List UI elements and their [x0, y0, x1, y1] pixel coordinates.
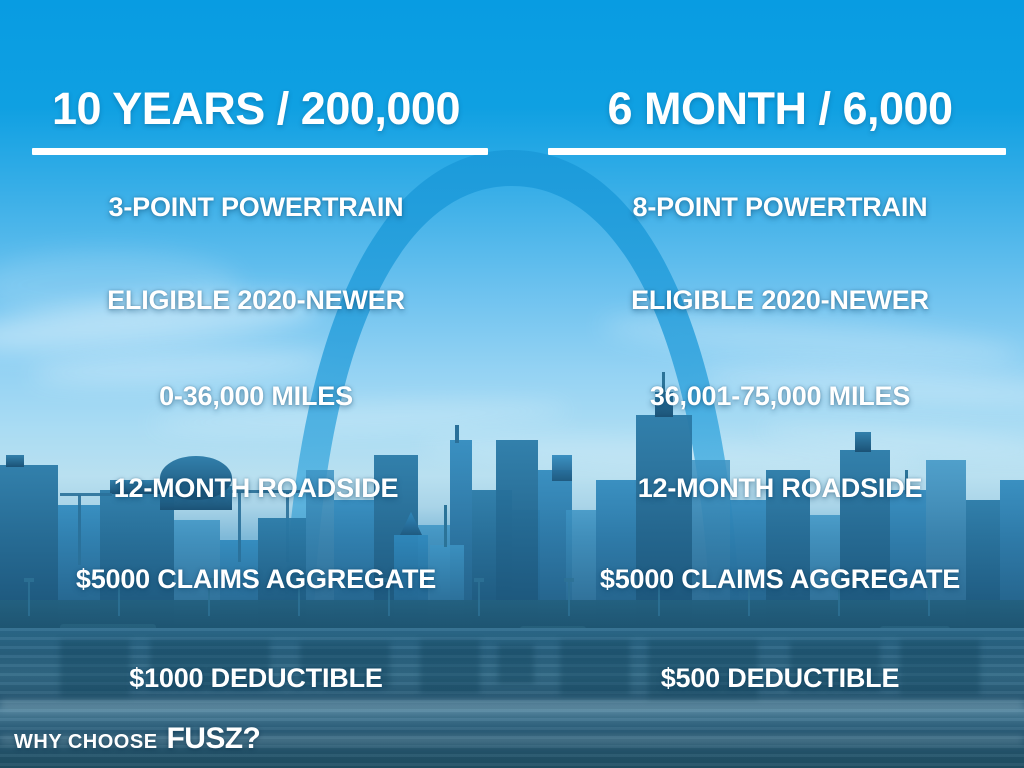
- feature-left-eligibility: ELIGIBLE 2020-NEWER: [0, 287, 524, 314]
- feature-right-eligibility: ELIGIBLE 2020-NEWER: [512, 287, 1024, 314]
- logo-prefix-text: WHY CHOOSE: [14, 731, 158, 754]
- feature-right-mileage: 36,001-75,000 MILES: [512, 383, 1024, 410]
- feature-right-claims-aggregate: $5000 CLAIMS AGGREGATE: [512, 566, 1024, 593]
- brand-logo: WHY CHOOSE FUSZ?: [14, 722, 260, 756]
- plan-header-left: 10 YEARS / 200,000: [0, 86, 524, 131]
- feature-right-powertrain: 8-POINT POWERTRAIN: [512, 194, 1024, 221]
- plan-column-right: 6 MONTH / 6,000 8-POINT POWERTRAIN ELIGI…: [512, 0, 1024, 768]
- feature-left-claims-aggregate: $5000 CLAIMS AGGREGATE: [0, 566, 524, 593]
- logo-brand-text: FUSZ?: [167, 722, 261, 756]
- feature-right-deductible: $500 DEDUCTIBLE: [512, 665, 1024, 692]
- feature-left-mileage: 0-36,000 MILES: [0, 383, 524, 410]
- feature-left-deductible: $1000 DEDUCTIBLE: [0, 665, 524, 692]
- warranty-comparison-slide: 10 YEARS / 200,000 3-POINT POWERTRAIN EL…: [0, 0, 1024, 768]
- feature-left-roadside: 12-MONTH ROADSIDE: [0, 475, 524, 502]
- plan-header-underline-right: [548, 148, 1006, 155]
- plan-header-underline-left: [32, 148, 488, 155]
- feature-left-powertrain: 3-POINT POWERTRAIN: [0, 194, 524, 221]
- plan-column-left: 10 YEARS / 200,000 3-POINT POWERTRAIN EL…: [0, 0, 512, 768]
- feature-right-roadside: 12-MONTH ROADSIDE: [512, 475, 1024, 502]
- plan-header-right: 6 MONTH / 6,000: [512, 86, 1024, 131]
- comparison-columns: 10 YEARS / 200,000 3-POINT POWERTRAIN EL…: [0, 0, 1024, 768]
